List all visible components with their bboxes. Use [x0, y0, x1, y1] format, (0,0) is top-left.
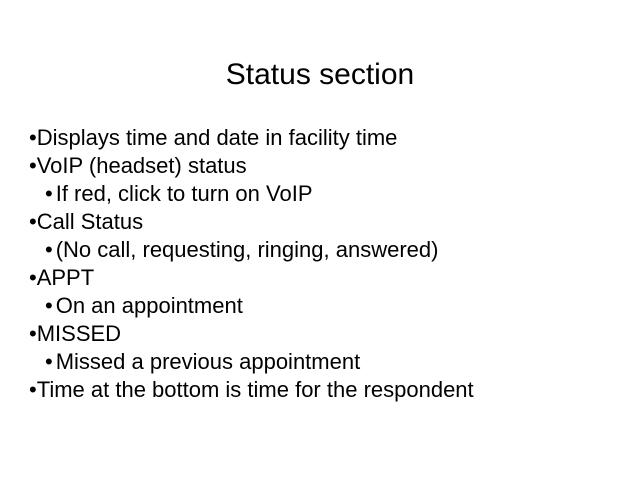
bullet-item: •MISSED: [0, 320, 640, 348]
bullet-item: •Displays time and date in facility time: [0, 124, 640, 152]
bullet-item: •Time at the bottom is time for the resp…: [0, 376, 640, 404]
bullet-item-label: Call Status: [37, 209, 143, 234]
bullet-item-label: If red, click to turn on VoIP: [56, 181, 313, 206]
bullet-point-icon: •: [29, 265, 37, 290]
bullet-point-icon: •: [29, 377, 37, 402]
bullet-point-icon: •: [45, 349, 53, 374]
slide-body-placeholder: •Displays time and date in facility time…: [0, 124, 640, 404]
bullet-item: •Call Status: [0, 208, 640, 236]
bullet-item-label: Missed a previous appointment: [56, 349, 361, 374]
bullet-item-label: APPT: [37, 265, 94, 290]
bullet-point-icon: •: [29, 321, 37, 346]
slide-title: Status section: [0, 58, 640, 92]
bullet-point-icon: •: [45, 237, 53, 262]
bullet-item-label: Displays time and date in facility time: [37, 125, 398, 150]
bullet-point-icon: •: [29, 153, 37, 178]
bullet-item-label: (No call, requesting, ringing, answered): [56, 237, 439, 262]
bullet-point-icon: •: [29, 209, 37, 234]
bullet-item: •Missed a previous appointment: [0, 348, 640, 376]
bullet-point-icon: •: [29, 125, 37, 150]
bullet-point-icon: •: [45, 181, 53, 206]
bullet-item-label: VoIP (headset) status: [37, 153, 247, 178]
bullet-point-icon: •: [45, 293, 53, 318]
bullet-item-label: Time at the bottom is time for the respo…: [37, 377, 474, 402]
bullet-item: •On an appointment: [0, 292, 640, 320]
slide: Status section •Displays time and date i…: [0, 0, 640, 480]
bullet-item: •If red, click to turn on VoIP: [0, 180, 640, 208]
bullet-item: •(No call, requesting, ringing, answered…: [0, 236, 640, 264]
bullet-item: •VoIP (headset) status: [0, 152, 640, 180]
bullet-item-label: MISSED: [37, 321, 121, 346]
bullet-item-label: On an appointment: [56, 293, 243, 318]
bullet-item: •APPT: [0, 264, 640, 292]
